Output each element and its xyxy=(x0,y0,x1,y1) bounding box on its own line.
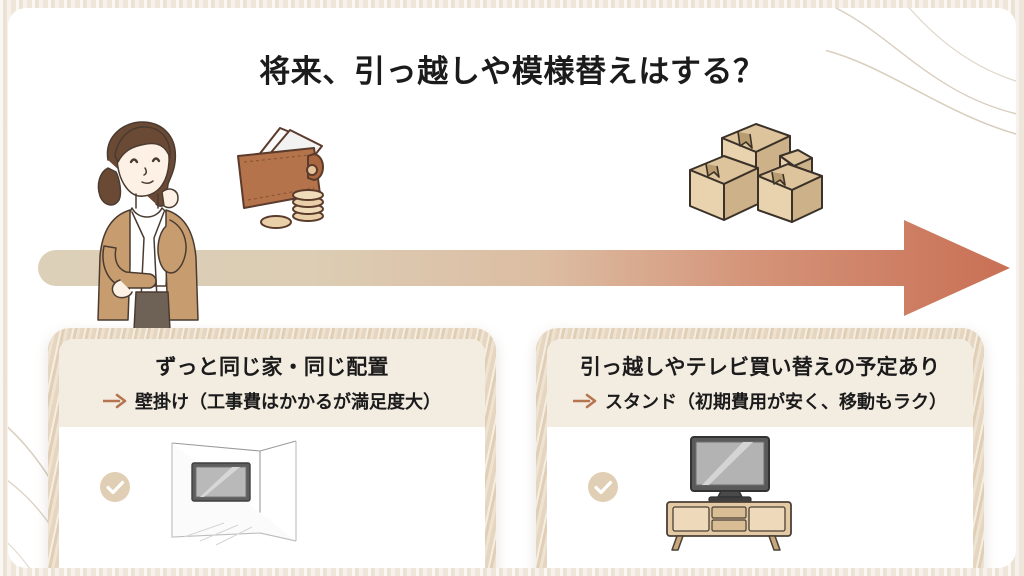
slide-canvas: 将来、引っ越しや模様替えはする？ xyxy=(0,0,1024,576)
card-illustration-area xyxy=(547,427,973,568)
check-circle-icon xyxy=(587,471,619,503)
moving-boxes-illustration xyxy=(676,116,832,228)
page-title: 将来、引っ越しや模様替えはする？ xyxy=(8,46,1016,91)
card-title: ずっと同じ家・同じ配置 xyxy=(69,351,475,381)
wallet-with-money-illustration xyxy=(222,120,346,232)
card-subtitle: スタンド（初期費用が安く、移動もラク） xyxy=(605,388,947,414)
card-subtitle-row: 壁掛け（工事費はかかるが満足度大） xyxy=(69,388,475,414)
decorative-curve-top-right xyxy=(826,8,1016,218)
slide-page: 将来、引っ越しや模様替えはする？ xyxy=(8,8,1016,568)
card-inner: ずっと同じ家・同じ配置 壁掛け（工事費はかかるが満足度大） xyxy=(59,339,485,568)
card-stay-same-home[interactable]: ずっと同じ家・同じ配置 壁掛け（工事費はかかるが満足度大） xyxy=(48,328,496,568)
card-header: 引っ越しやテレビ買い替えの予定あり スタンド（初期費用が安く、移動もラク） xyxy=(547,339,973,427)
card-subtitle-row: スタンド（初期費用が安く、移動もラク） xyxy=(557,388,963,414)
card-subtitle: 壁掛け（工事費はかかるが満足度大） xyxy=(135,388,441,414)
card-header: ずっと同じ家・同じ配置 壁掛け（工事費はかかるが満足度大） xyxy=(59,339,485,427)
thinking-woman-illustration xyxy=(74,116,202,330)
card-inner: 引っ越しやテレビ買い替えの予定あり スタンド（初期費用が安く、移動もラク） xyxy=(547,339,973,568)
card-moving-or-replacing[interactable]: 引っ越しやテレビ買い替えの予定あり スタンド（初期費用が安く、移動もラク） xyxy=(536,328,984,568)
card-illustration-area xyxy=(59,427,485,568)
tv-on-stand-illustration xyxy=(647,433,807,551)
right-arrow-icon xyxy=(103,393,129,409)
right-arrow-icon xyxy=(573,393,599,409)
wall-mounted-tv-illustration xyxy=(164,437,304,547)
card-title: 引っ越しやテレビ買い替えの予定あり xyxy=(557,351,963,381)
check-circle-icon xyxy=(99,471,131,503)
